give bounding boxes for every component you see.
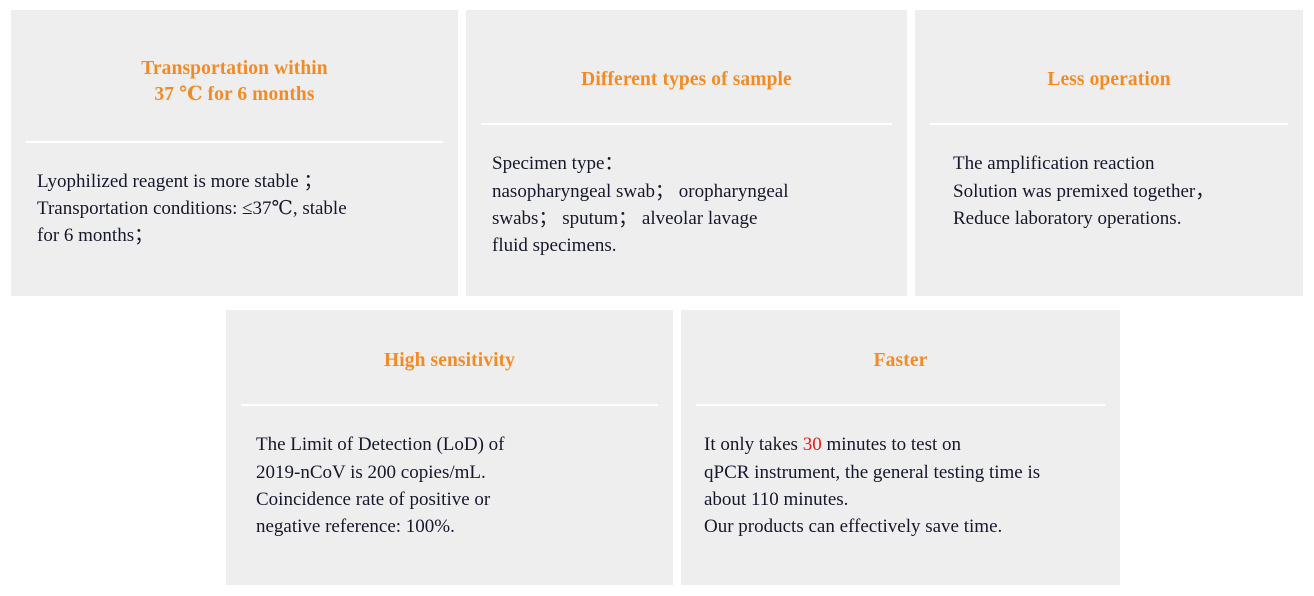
- card-transportation-divider-area: [11, 109, 458, 143]
- card-sample-types-title: Different types of sample: [466, 67, 907, 93]
- card-high-sensitivity-body-text: The Limit of Detection (LoD) of 2019-nCo…: [256, 434, 505, 537]
- card-less-operation-body-area: The amplification reaction Solution was …: [915, 125, 1303, 232]
- card-less-operation: Less operation The amplification reactio…: [915, 10, 1303, 296]
- card-high-sensitivity: High sensitivity The Limit of Detection …: [226, 310, 673, 585]
- card-sample-types-body: Specimen type： nasopharyngeal swab； orop…: [492, 150, 907, 259]
- card-less-operation-body: The amplification reaction Solution was …: [953, 150, 1303, 232]
- card-faster-divider-area: [681, 374, 1120, 406]
- card-sample-types-body-area: Specimen type： nasopharyngeal swab； orop…: [466, 125, 907, 259]
- card-less-operation-body-text: The amplification reaction Solution was …: [953, 153, 1214, 229]
- feature-card-board: Transportation within 37 ℃ for 6 months …: [0, 0, 1314, 596]
- card-high-sensitivity-title: High sensitivity: [226, 348, 673, 374]
- card-sample-types: Different types of sample Specimen type：…: [466, 10, 907, 296]
- card-transportation-body-text: Lyophilized reagent is more stable ； Tra…: [37, 171, 347, 247]
- card-high-sensitivity-body-area: The Limit of Detection (LoD) of 2019-nCo…: [226, 406, 673, 540]
- card-less-operation-divider-area: [915, 93, 1303, 125]
- card-faster-title-area: Faster: [681, 310, 1120, 374]
- card-faster: Faster It only takes 30 minutes to test …: [681, 310, 1120, 585]
- card-high-sensitivity-body: The Limit of Detection (LoD) of 2019-nCo…: [256, 431, 673, 540]
- card-faster-highlight-minutes: 30: [803, 434, 822, 455]
- card-faster-body: It only takes 30 minutes to test on qPCR…: [704, 431, 1120, 540]
- card-sample-types-title-area: Different types of sample: [466, 10, 907, 93]
- card-transportation-body-area: Lyophilized reagent is more stable ； Tra…: [11, 143, 458, 250]
- card-sample-types-divider-area: [466, 93, 907, 125]
- card-less-operation-title-area: Less operation: [915, 10, 1303, 93]
- card-faster-title: Faster: [681, 348, 1120, 374]
- card-transportation-title-area: Transportation within 37 ℃ for 6 months: [11, 10, 458, 109]
- card-transportation-body: Lyophilized reagent is more stable ； Tra…: [37, 168, 458, 250]
- card-sample-types-body-text: Specimen type： nasopharyngeal swab； orop…: [492, 153, 789, 256]
- card-less-operation-title: Less operation: [915, 67, 1303, 93]
- card-high-sensitivity-title-area: High sensitivity: [226, 310, 673, 374]
- card-transportation-title: Transportation within 37 ℃ for 6 months: [11, 56, 458, 109]
- card-high-sensitivity-divider-area: [226, 374, 673, 406]
- card-faster-body-area: It only takes 30 minutes to test on qPCR…: [681, 406, 1120, 540]
- card-faster-body-text-before: It only takes: [704, 434, 803, 455]
- card-transportation: Transportation within 37 ℃ for 6 months …: [11, 10, 458, 296]
